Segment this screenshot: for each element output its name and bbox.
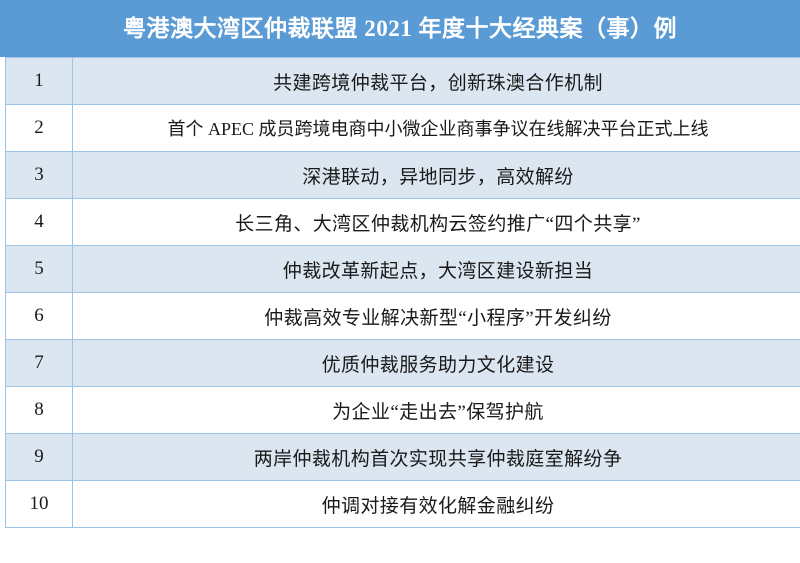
case-table: 1 共建跨境仲裁平台，创新珠澳合作机制 2 首个 APEC 成员跨境电商中小微企… — [5, 57, 800, 528]
row-index: 8 — [6, 387, 73, 434]
row-index: 1 — [6, 58, 73, 105]
row-title: 优质仲裁服务助力文化建设 — [73, 340, 800, 387]
row-index: 6 — [6, 293, 73, 340]
row-title: 长三角、大湾区仲裁机构云签约推广“四个共享” — [73, 199, 800, 246]
row-index: 9 — [6, 434, 73, 481]
page-title: 粤港澳大湾区仲裁联盟 2021 年度十大经典案（事）例 — [123, 17, 677, 40]
row-index: 2 — [6, 105, 73, 152]
case-list-page: 粤港澳大湾区仲裁联盟 2021 年度十大经典案（事）例 1 共建跨境仲裁平台，创… — [0, 0, 800, 563]
table-row: 6 仲裁高效专业解决新型“小程序”开发纠纷 — [6, 293, 800, 340]
table-row: 1 共建跨境仲裁平台，创新珠澳合作机制 — [6, 58, 800, 105]
table-row: 5 仲裁改革新起点，大湾区建设新担当 — [6, 246, 800, 293]
row-index: 7 — [6, 340, 73, 387]
row-index: 3 — [6, 152, 73, 199]
row-index: 10 — [6, 481, 73, 528]
row-title: 仲调对接有效化解金融纠纷 — [73, 481, 800, 528]
case-table-container: 1 共建跨境仲裁平台，创新珠澳合作机制 2 首个 APEC 成员跨境电商中小微企… — [5, 57, 795, 528]
row-title: 仲裁高效专业解决新型“小程序”开发纠纷 — [73, 293, 800, 340]
table-row: 2 首个 APEC 成员跨境电商中小微企业商事争议在线解决平台正式上线 — [6, 105, 800, 152]
table-row: 9 两岸仲裁机构首次实现共享仲裁庭室解纷争 — [6, 434, 800, 481]
case-table-body: 1 共建跨境仲裁平台，创新珠澳合作机制 2 首个 APEC 成员跨境电商中小微企… — [6, 58, 800, 528]
row-title: 仲裁改革新起点，大湾区建设新担当 — [73, 246, 800, 293]
row-title: 共建跨境仲裁平台，创新珠澳合作机制 — [73, 58, 800, 105]
table-row: 3 深港联动，异地同步，高效解纷 — [6, 152, 800, 199]
table-row: 7 优质仲裁服务助力文化建设 — [6, 340, 800, 387]
row-title: 为企业“走出去”保驾护航 — [73, 387, 800, 434]
table-row: 10 仲调对接有效化解金融纠纷 — [6, 481, 800, 528]
row-title: 首个 APEC 成员跨境电商中小微企业商事争议在线解决平台正式上线 — [73, 105, 800, 152]
row-index: 5 — [6, 246, 73, 293]
table-row: 4 长三角、大湾区仲裁机构云签约推广“四个共享” — [6, 199, 800, 246]
row-index: 4 — [6, 199, 73, 246]
row-title: 深港联动，异地同步，高效解纷 — [73, 152, 800, 199]
page-title-band: 粤港澳大湾区仲裁联盟 2021 年度十大经典案（事）例 — [0, 0, 800, 57]
row-title: 两岸仲裁机构首次实现共享仲裁庭室解纷争 — [73, 434, 800, 481]
table-row: 8 为企业“走出去”保驾护航 — [6, 387, 800, 434]
